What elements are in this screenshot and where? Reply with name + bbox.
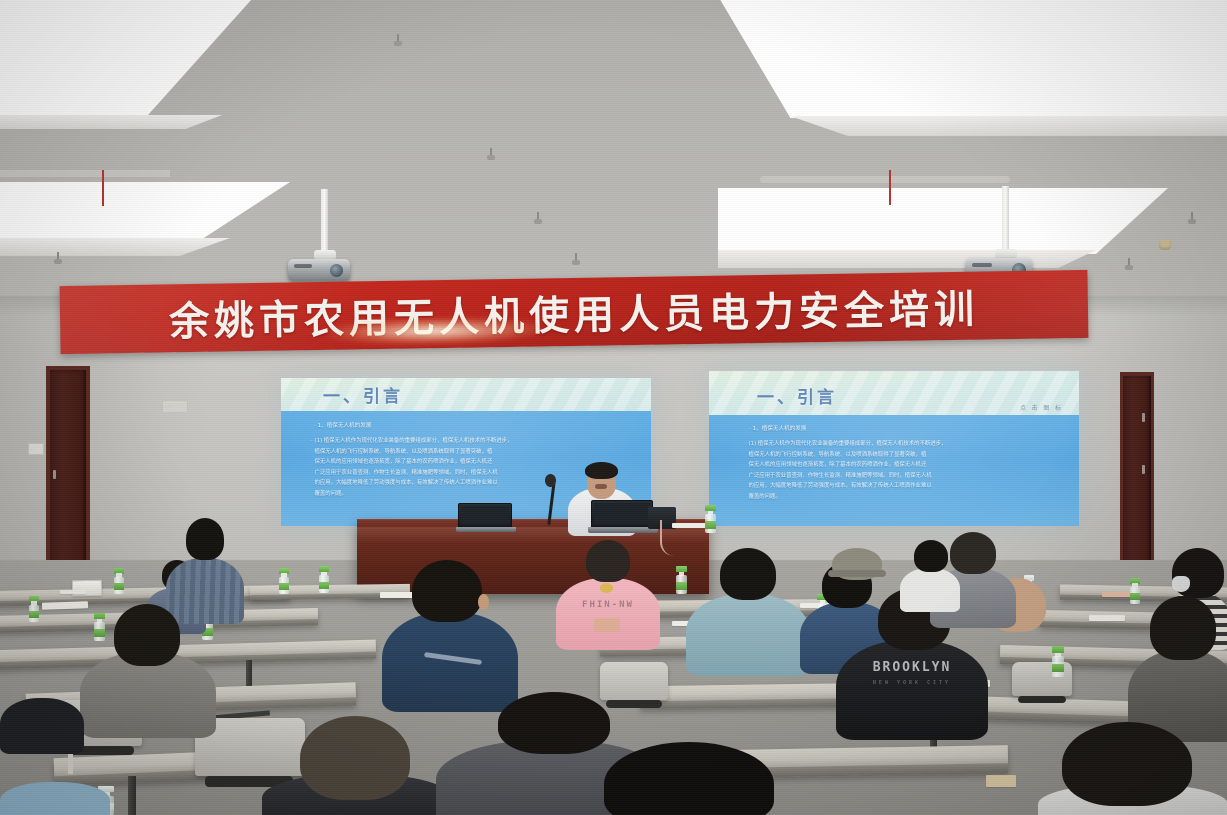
banner-cord xyxy=(102,170,104,206)
skylight-panel-upper-right xyxy=(712,0,1227,118)
water-bottle[interactable] xyxy=(319,566,329,593)
slide-title-right: 一、引言 xyxy=(757,383,837,408)
attendee-foreground xyxy=(0,772,110,815)
attendee-pink-shirt: FHIN-NW xyxy=(556,540,660,648)
attendee xyxy=(80,604,216,734)
slide-title-left: 一、引言 xyxy=(323,382,403,407)
training-room-photo: 余姚市农用无人机使用人员电力安全培训 ·· ···· 一、引言 · 1、植保无人… xyxy=(0,0,1227,815)
attendee-foreground xyxy=(1038,722,1227,815)
sprinkler-icon xyxy=(487,148,495,161)
attendee-foreground xyxy=(262,716,452,815)
projector-vent-left xyxy=(294,264,312,268)
projector-vent-right xyxy=(972,263,992,267)
door-handle-right[interactable] xyxy=(1142,465,1145,474)
skylight-bevel-upper-right xyxy=(790,116,1227,136)
shirt-badge xyxy=(600,583,613,593)
projection-screen-right: 一、引言 点 击 图 标 · 1、植保无人机的发展 · (1) 植保无人机作为现… xyxy=(709,371,1079,526)
papers xyxy=(60,590,86,594)
cap-brim xyxy=(828,570,886,577)
slide-logo-right: 点 击 图 标 xyxy=(1020,403,1063,412)
desk-leg xyxy=(128,776,136,815)
water-bottle[interactable] xyxy=(114,568,124,594)
presenter-mouth xyxy=(595,484,607,489)
ear xyxy=(478,594,489,610)
water-bottle[interactable] xyxy=(279,568,289,594)
attendee xyxy=(0,680,84,750)
light-switch-plate-left[interactable]: ·· xyxy=(28,443,44,455)
papers xyxy=(1089,615,1125,621)
slide-bullet1-right: · 1、植保无人机的发展 xyxy=(749,424,1067,435)
water-bottle[interactable] xyxy=(705,505,716,533)
presenter-hair xyxy=(585,462,618,479)
sprinkler-icon xyxy=(572,253,580,266)
skylight-bevel-upper-left xyxy=(0,115,222,129)
slide-bullet2-right: · (1) 植保无人机作为现代化农业装备的重要组成部分，植保无人机技术的不断进步… xyxy=(745,439,1075,502)
attendee-foreground xyxy=(604,742,774,815)
sprinkler-icon xyxy=(394,34,402,47)
face-mask xyxy=(1172,576,1190,592)
skylight-bevel-lower-right xyxy=(718,250,1096,268)
sprinkler-icon xyxy=(1188,212,1196,225)
shirt-graphic xyxy=(594,618,620,632)
attendee xyxy=(686,548,810,674)
banner-light-glare xyxy=(330,316,540,346)
projector-mount-pole-left xyxy=(321,189,328,253)
projector-lens-left xyxy=(330,264,343,277)
attendee xyxy=(1128,596,1227,736)
ceiling-trim-right xyxy=(760,176,1010,183)
sprinkler-icon xyxy=(534,212,542,225)
banner-cord xyxy=(889,170,891,205)
sprinkler-icon xyxy=(54,252,62,265)
ceiling-trim-left xyxy=(0,170,170,177)
projector-mount-pole-right xyxy=(1002,186,1009,252)
attendee xyxy=(382,560,518,710)
banner-title: 余姚市农用无人机使用人员电力安全培训 xyxy=(169,277,980,348)
slide-bullet1-left: · 1、植保无人机的发展 xyxy=(314,421,634,432)
pink-shirt-print: FHIN-NW xyxy=(556,600,660,610)
wall-sign-left: ···· xyxy=(162,400,188,413)
door-hinge-upper-right xyxy=(1142,413,1145,422)
water-bottle[interactable] xyxy=(29,596,39,622)
fire-strobe-icon xyxy=(1159,240,1171,250)
pack-on-desk xyxy=(986,775,1016,787)
attendee xyxy=(900,540,960,608)
skylight-panel-lower-right xyxy=(718,188,1168,254)
laptop-left[interactable] xyxy=(456,503,516,533)
microphone-head-icon xyxy=(545,474,556,487)
door-handle-left[interactable] xyxy=(53,470,56,479)
sprinkler-icon xyxy=(1125,258,1133,271)
